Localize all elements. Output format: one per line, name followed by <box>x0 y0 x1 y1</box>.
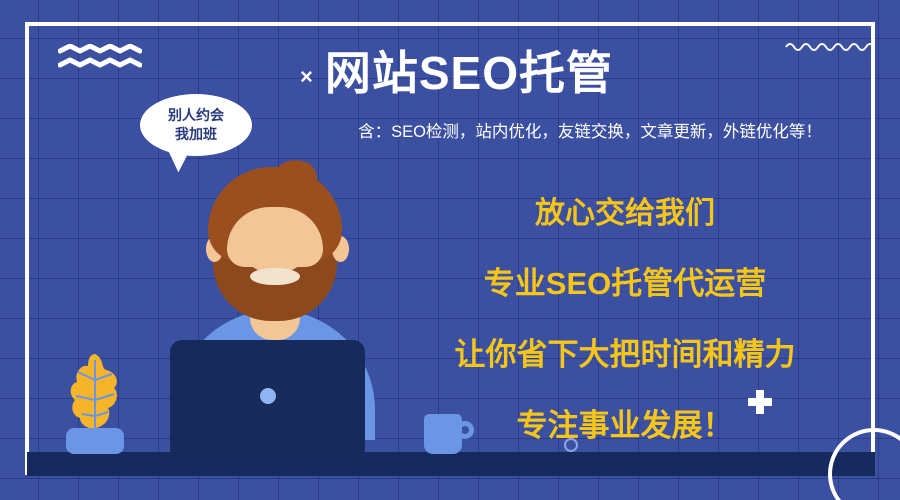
page-subtitle: 含：SEO检测，站内优化，友链交换，文章更新，外链优化等！ <box>300 118 880 142</box>
speech-bubble: 别人约会 我加班 <box>140 94 252 156</box>
title-row: × 网站SEO托管 <box>300 48 860 99</box>
slogan-line-2: 专业SEO托管代运营 <box>390 258 860 303</box>
speech-bubble-line-2: 我加班 <box>175 125 217 144</box>
seo-hosting-poster: × 网站SEO托管 含：SEO检测，站内优化，友链交换，文章更新，外链优化等！ … <box>0 0 900 500</box>
plus-icon <box>748 390 772 414</box>
plant-pot <box>66 428 124 454</box>
slogan-list: 放心交给我们 专业SEO托管代运营 让你省下大把时间和精力 专注事业发展！ <box>390 188 860 445</box>
character-mouth <box>250 268 300 285</box>
laptop-logo-icon <box>260 388 276 404</box>
potted-plant-icon <box>68 352 122 434</box>
slogan-line-1: 放心交给我们 <box>390 188 860 232</box>
page-title: 网站SEO托管 <box>325 48 613 99</box>
title-bullet-mark: × <box>300 66 313 88</box>
small-circle-dot-icon <box>564 438 578 452</box>
speech-bubble-line-1: 别人约会 <box>168 106 224 125</box>
coffee-mug-handle <box>456 421 474 439</box>
wave-lines-icon <box>58 44 142 72</box>
slogan-line-3: 让你省下大把时间和精力 <box>390 329 860 374</box>
desk-surface <box>27 452 875 476</box>
